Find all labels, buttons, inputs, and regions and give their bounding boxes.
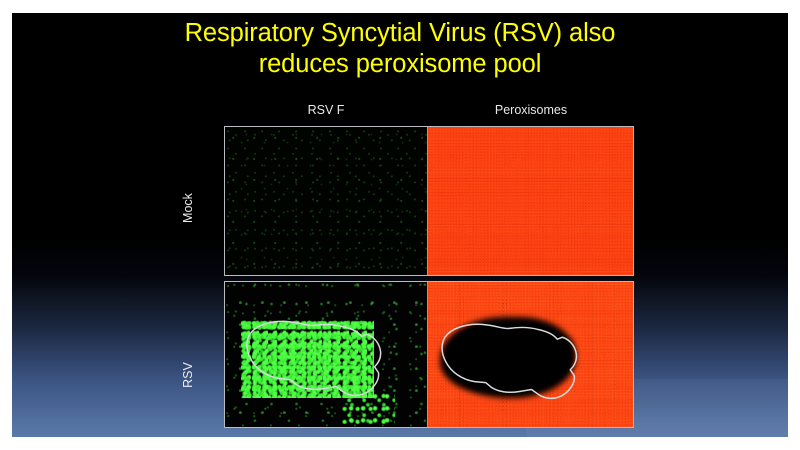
red-channel-field <box>428 127 633 275</box>
panel-grid <box>224 126 634 428</box>
green-channel-field <box>225 127 427 275</box>
rsv-f-puncta-tail <box>342 392 395 424</box>
column-header-rsv-f: RSV F <box>224 103 428 117</box>
panel-row-rsv <box>224 281 634 428</box>
row-label-mock: Mock <box>181 176 195 240</box>
page-title: Respiratory Syncytial Virus (RSV) also r… <box>12 18 788 80</box>
slide-canvas: Respiratory Syncytial Virus (RSV) also r… <box>12 13 788 437</box>
column-header-peroxisomes: Peroxisomes <box>428 103 634 117</box>
panel-mock-rsv-f <box>225 127 428 275</box>
row-label-rsv: RSV <box>181 343 195 407</box>
panel-rsv-rsv-f <box>225 282 428 427</box>
panel-mock-peroxisomes <box>428 127 633 275</box>
rsv-f-puncta-cluster <box>241 320 374 398</box>
panel-rsv-peroxisomes <box>428 282 633 427</box>
microscopy-figure: RSV F Peroxisomes Mock RSV <box>160 91 784 423</box>
panel-row-mock <box>224 126 634 276</box>
peroxisome-depletion-zone <box>440 317 575 398</box>
